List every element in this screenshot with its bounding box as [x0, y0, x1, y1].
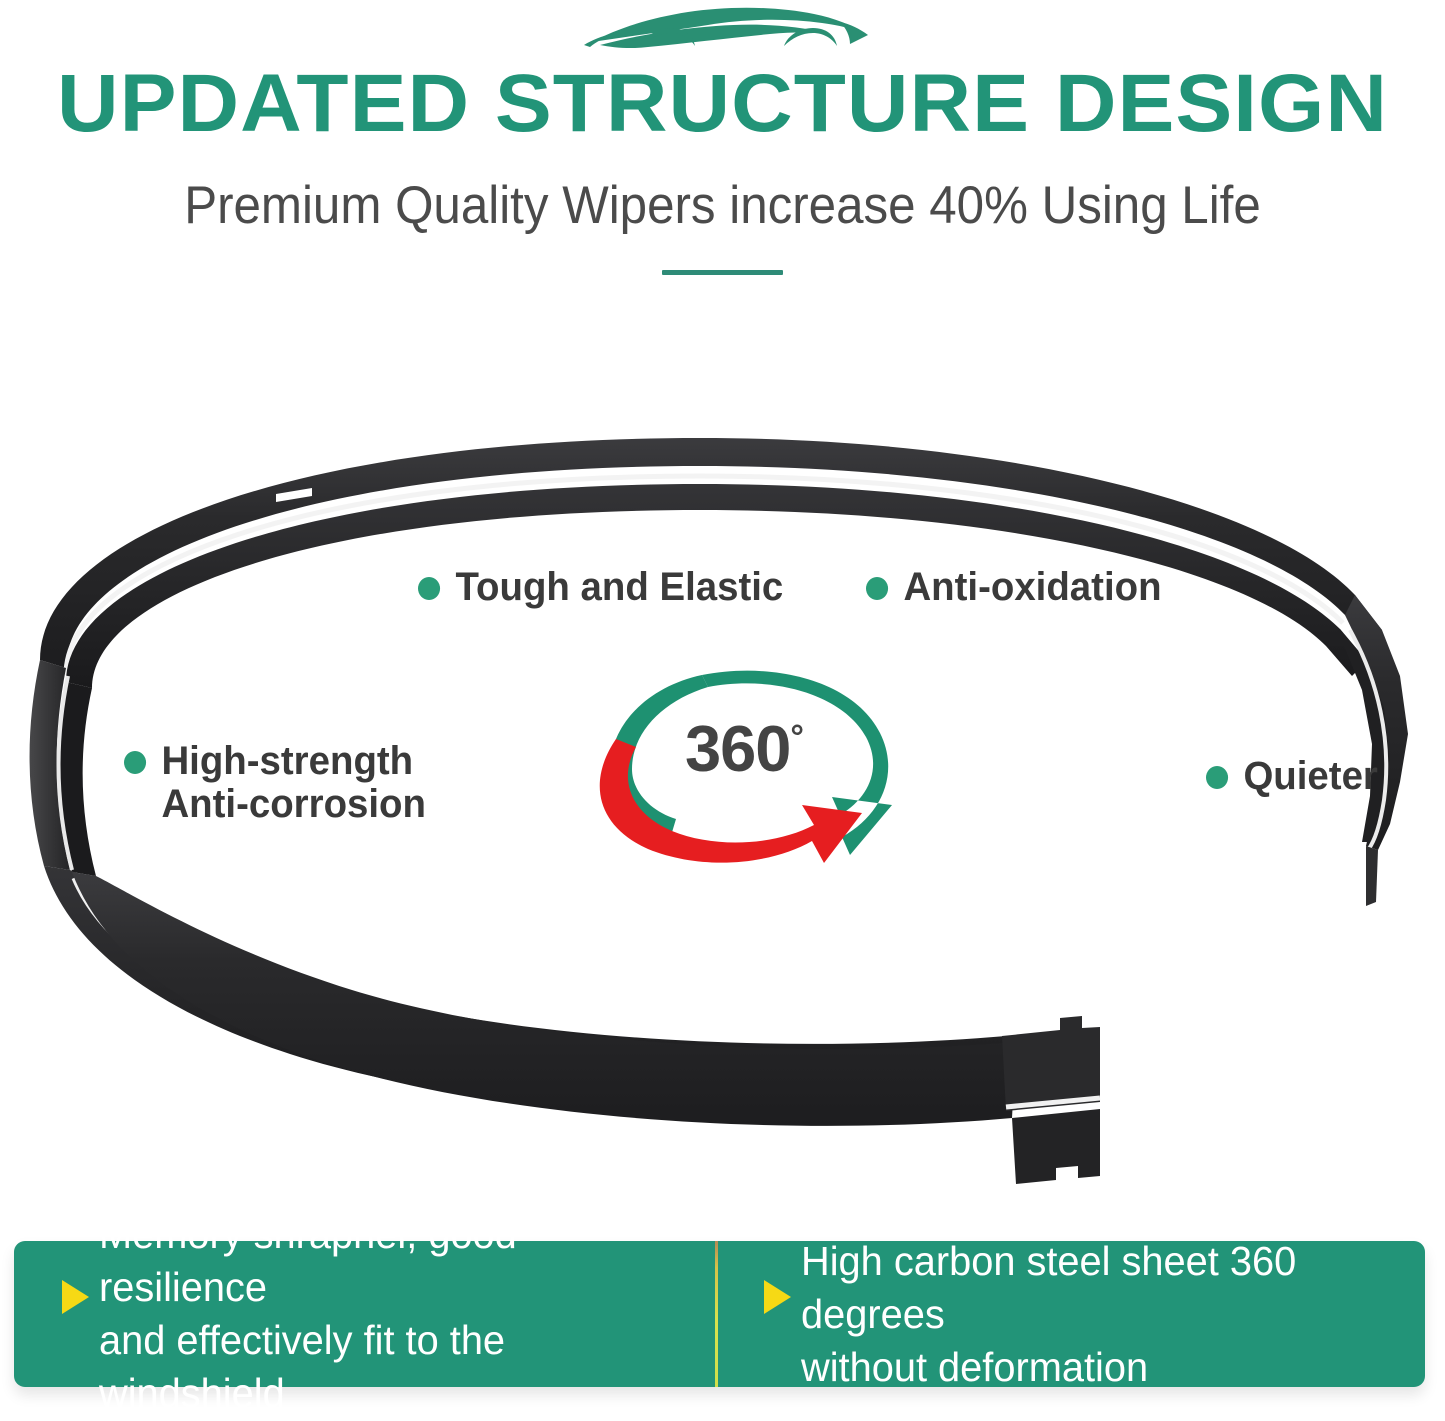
banner-panel-high-carbon-steel: High carbon steel sheet 360 degrees with… [718, 1241, 1425, 1387]
car-silhouette-icon [578, 2, 878, 58]
play-triangle-icon [62, 1280, 89, 1314]
bullet-dot-icon [418, 577, 440, 600]
feature-callout-quieter: Quieter [1206, 755, 1378, 798]
banner-text: Memory shrapnel, good resilience and eff… [99, 1208, 671, 1420]
banner-panel-memory-shrapnel: Memory shrapnel, good resilience and eff… [14, 1241, 715, 1387]
feature-callout-tough-and-elastic: Tough and Elastic [418, 566, 783, 609]
bottom-feature-banner: Memory shrapnel, good resilience and eff… [14, 1241, 1425, 1387]
title-underline [662, 270, 783, 275]
play-triangle-icon [764, 1280, 791, 1314]
banner-text: High carbon steel sheet 360 degrees with… [801, 1235, 1382, 1394]
bullet-dot-icon [866, 577, 888, 600]
badge-value: 360 [685, 712, 790, 785]
badge-360-degrees: 360° [574, 655, 914, 870]
bullet-dot-icon [124, 751, 146, 774]
feature-label: Anti-oxidation [903, 566, 1161, 609]
page-subtitle: Premium Quality Wipers increase 40% Usin… [51, 176, 1395, 236]
page-title: UPDATED STRUCTURE DESIGN [0, 60, 1445, 148]
feature-callout-high-strength-anti-corrosion: High-strength Anti-corrosion [124, 740, 426, 826]
feature-label: High-strength Anti-corrosion [161, 740, 426, 826]
feature-callout-anti-oxidation: Anti-oxidation [866, 566, 1162, 609]
feature-label: Quieter [1243, 755, 1377, 798]
bullet-dot-icon [1206, 766, 1228, 789]
product-feature-graphic: UPDATED STRUCTURE DESIGN Premium Quality… [0, 0, 1445, 1421]
feature-label: Tough and Elastic [455, 566, 783, 609]
degree-symbol: ° [790, 718, 803, 756]
badge-360-label: 360° [574, 714, 914, 784]
